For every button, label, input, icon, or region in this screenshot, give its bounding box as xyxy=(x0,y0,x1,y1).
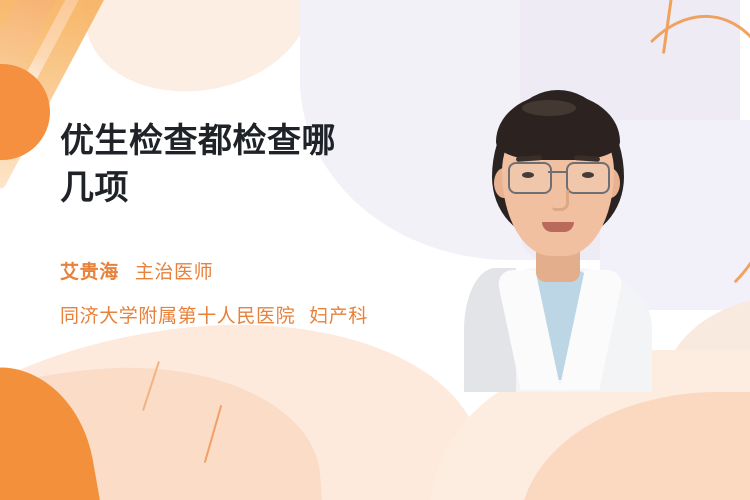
glasses-lens-right xyxy=(566,162,610,194)
video-thumbnail-card: 优生检查都检查哪 几项 艾贵海主治医师 同济大学附属第十人民医院妇产科 xyxy=(0,0,750,500)
doctor-title: 主治医师 xyxy=(135,262,213,283)
glasses-lens-left xyxy=(508,162,552,194)
department-name: 妇产科 xyxy=(309,306,368,327)
hospital-name: 同济大学附属第十人民医院 xyxy=(60,306,295,327)
page-title: 优生检查都检查哪 几项 xyxy=(60,118,450,212)
doctor-byline: 艾贵海主治医师 xyxy=(60,260,450,286)
doctor-name: 艾贵海 xyxy=(60,262,119,283)
glasses-bridge xyxy=(548,171,566,173)
nose xyxy=(552,190,569,211)
doctor-portrait xyxy=(448,86,686,386)
mouth xyxy=(542,222,574,232)
peach-blob-top xyxy=(77,0,326,105)
glasses-icon xyxy=(506,162,610,192)
doctor-affiliation: 同济大学附属第十人民医院妇产科 xyxy=(60,304,450,330)
text-block: 优生检查都检查哪 几项 艾贵海主治医师 同济大学附属第十人民医院妇产科 xyxy=(60,118,450,330)
hair-highlight xyxy=(522,100,576,116)
